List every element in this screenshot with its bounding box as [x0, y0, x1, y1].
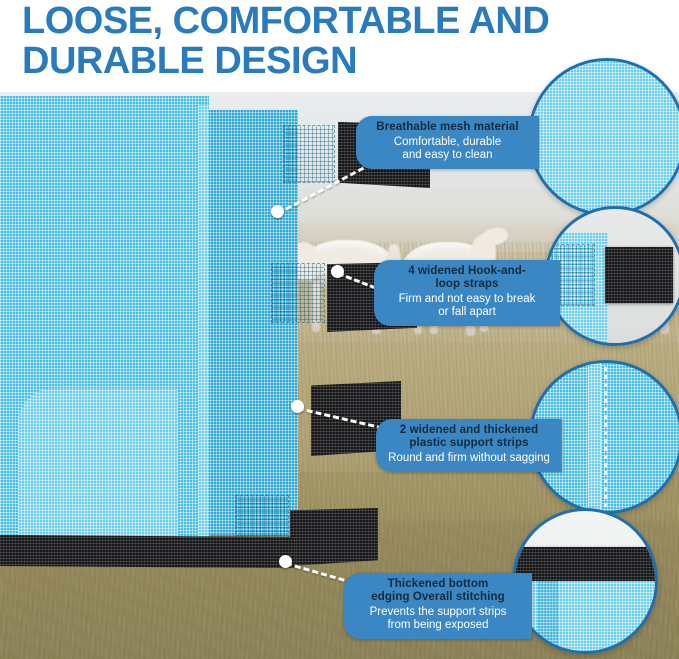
callout-hook-and-loop-straps[interactable]: 4 widened Hook-and- loop straps Firm and… — [374, 260, 560, 326]
inset-3-support-strip — [588, 360, 601, 514]
callout-3-title-line1: 2 widened and thickened — [388, 424, 550, 437]
callout-4-subtitle-line1: Prevents the support strips — [356, 606, 520, 619]
stitch-patch-2 — [272, 264, 324, 322]
inset-4-mesh — [512, 581, 658, 654]
page-title-line2: DURABLE DESIGN — [22, 42, 642, 82]
page-title: LOOSE, COMFORTABLE AND DURABLE DESIGN — [22, 2, 642, 82]
callout-4-title-line1: Thickened bottom — [356, 578, 520, 591]
callout-breathable-mesh[interactable]: Breathable mesh material Comfortable, du… — [356, 116, 539, 169]
callout-3-title-line2: plastic support strips — [388, 437, 550, 450]
callout-1-title: Breathable mesh material — [368, 121, 527, 134]
inset-2-hook-loop-strap — [605, 247, 673, 303]
inset-hook-loop-closeup — [545, 206, 679, 346]
vertical-seam — [198, 104, 209, 546]
infographic-canvas: Breathable mesh material Comfortable, du… — [0, 0, 679, 659]
callout-2-title-line1: 4 widened Hook-and- — [386, 265, 548, 278]
callout-1-subtitle-line2: and easy to clean — [368, 149, 527, 162]
bottom-edging-band — [0, 535, 296, 568]
callout-thickened-bottom-edging[interactable]: Thickened bottom edging Overall stitchin… — [344, 573, 532, 639]
callout-4-subtitle-line2: from being exposed — [356, 619, 520, 632]
callout-1-subtitle-line1: Comfortable, durable — [368, 136, 527, 149]
inset-mesh-fabric — [531, 61, 679, 213]
inset-4-support-strip — [537, 581, 559, 654]
callout-2-subtitle-line1: Firm and not easy to break — [386, 293, 548, 306]
hook-loop-strap-4 — [290, 508, 378, 566]
callout-4-title-line2: edging Overall stitching — [356, 591, 520, 604]
page-title-line1: LOOSE, COMFORTABLE AND — [22, 2, 642, 42]
callout-2-subtitle-line2: or fall apart — [386, 306, 548, 319]
inset-bottom-edging-closeup — [512, 508, 658, 654]
callout-3-subtitle-line1: Round and firm without sagging — [388, 452, 550, 465]
leader-dot-2 — [331, 265, 344, 278]
callout-2-title-line2: loop straps — [386, 278, 548, 291]
stitch-patch-1 — [284, 126, 334, 182]
callout-plastic-support-strips[interactable]: 2 widened and thickened plastic support … — [376, 419, 562, 472]
leader-dot-3 — [291, 400, 304, 413]
leader-dot-4 — [279, 555, 292, 568]
inset-4-edging-band — [512, 547, 658, 581]
inset-3-stitch-line — [604, 360, 607, 514]
leader-dot-1 — [271, 205, 284, 218]
